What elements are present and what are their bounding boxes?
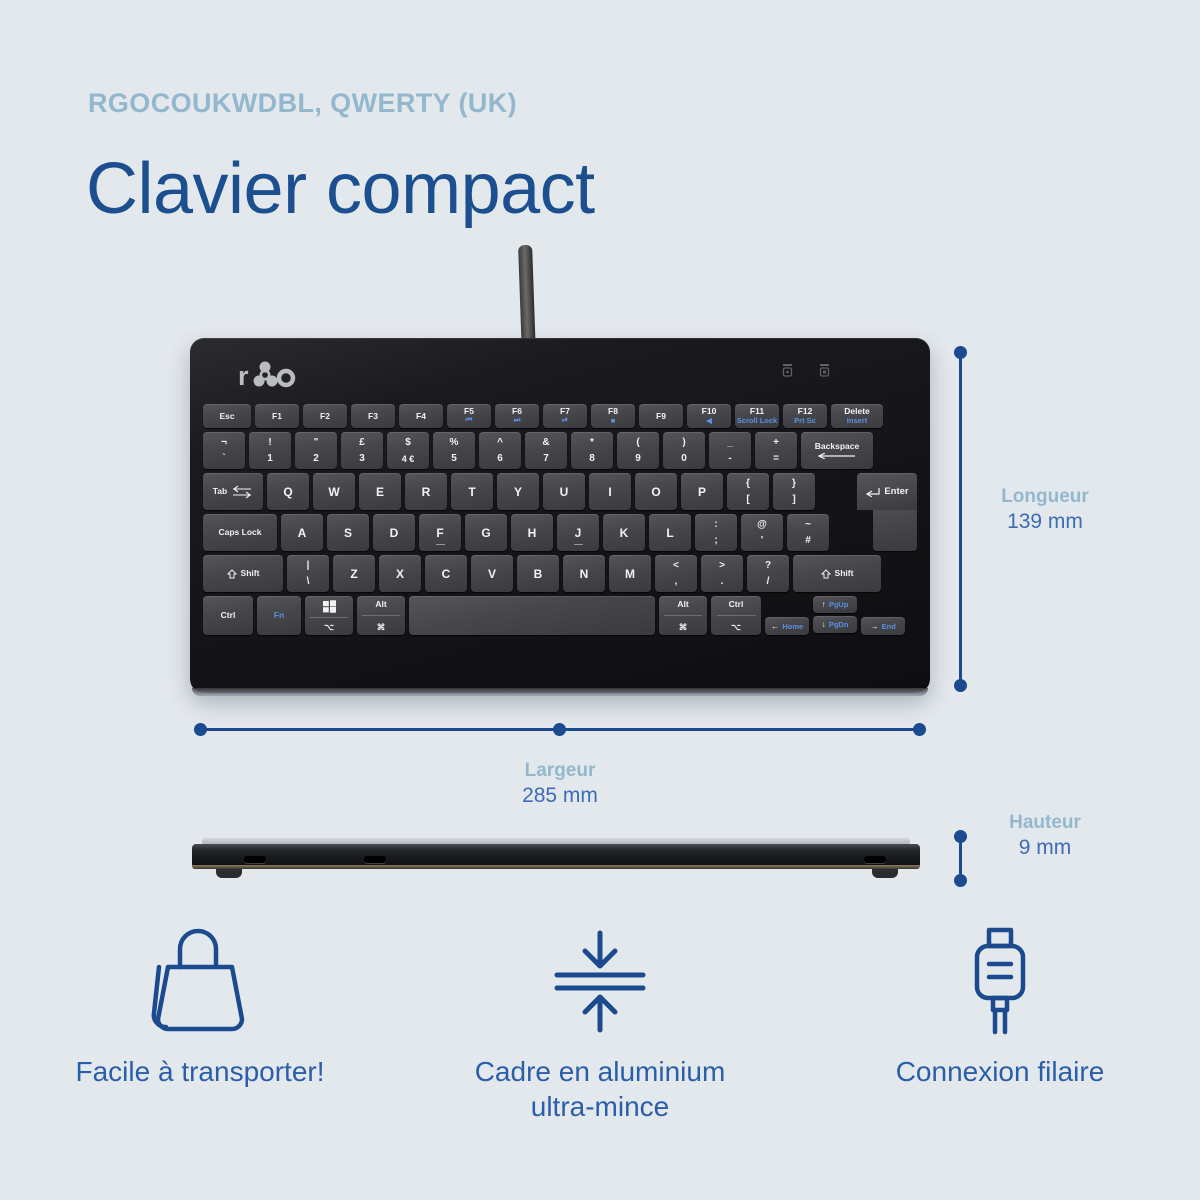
key-j[interactable]: J — [557, 514, 599, 551]
key-f2[interactable]: F2 — [303, 404, 347, 428]
key-right-shift[interactable]: Shift — [793, 555, 881, 592]
key-z[interactable]: Z — [333, 555, 375, 592]
option-icon: ⌥ — [324, 623, 334, 632]
command-icon: ⌘ — [679, 623, 688, 632]
key-arrow-up[interactable]: ↑ PgUp — [813, 596, 857, 613]
key-f10[interactable]: F10 ◀ — [687, 404, 731, 428]
height-label: Hauteur — [965, 812, 1125, 834]
key-8[interactable]: * 8 — [571, 432, 613, 469]
thin-frame-icon — [545, 920, 655, 1040]
key-backspace[interactable]: Backspace — [801, 432, 873, 469]
key-k[interactable]: K — [603, 514, 645, 551]
windows-icon — [323, 600, 336, 613]
length-dot-top — [954, 346, 967, 359]
key-arrow-left[interactable]: ← Home — [765, 617, 809, 635]
key-e[interactable]: E — [359, 473, 401, 510]
key-t[interactable]: T — [451, 473, 493, 510]
next-track-icon: ⏭ — [514, 415, 521, 425]
key-right-ctrl-option[interactable]: Ctrl ⌥ — [711, 596, 761, 635]
bag-icon — [146, 920, 254, 1040]
key-f11[interactable]: F11 Scroll Lock — [735, 404, 779, 428]
shift-arrow-icon — [821, 569, 831, 579]
play-pause-icon: ⏯ — [562, 415, 568, 425]
feature-thin-frame: Cadre en aluminium ultra-mince — [400, 920, 800, 1124]
volume-icon: ◀ — [706, 416, 712, 425]
key-n[interactable]: N — [563, 555, 605, 592]
homing-bump — [436, 544, 445, 546]
key-f8[interactable]: F8 ■ — [591, 404, 635, 428]
product-sku: RGOCOUKWDBL, QWERTY (UK) — [88, 88, 517, 119]
key-delete[interactable]: Delete Insert — [831, 404, 883, 428]
key-f6[interactable]: F6 ⏭ — [495, 404, 539, 428]
key-y[interactable]: Y — [497, 473, 539, 510]
shift-key-row: Shift | \ Z X C V B N M < — [203, 555, 917, 592]
key-left-ctrl[interactable]: Ctrl — [203, 596, 253, 635]
key-f1[interactable]: F1 — [255, 404, 299, 428]
key-grave[interactable]: ¬ ` — [203, 432, 245, 469]
key-esc[interactable]: Esc — [203, 404, 251, 428]
key-s[interactable]: S — [327, 514, 369, 551]
side-foot-left — [216, 869, 242, 878]
key-windows-option[interactable]: ⌥ — [305, 596, 353, 635]
key-f9[interactable]: F9 — [639, 404, 683, 428]
key-f5[interactable]: F5 ⏮ — [447, 404, 491, 428]
modifier-key-row: Ctrl Fn ⌥ — [203, 596, 917, 635]
caps-lock-led-icon — [782, 364, 793, 377]
length-dot-bottom — [954, 679, 967, 692]
width-dot-right — [913, 723, 926, 736]
side-chassis — [192, 844, 920, 866]
key-fn[interactable]: Fn — [257, 596, 301, 635]
key-bracket-right[interactable]: } ] — [773, 473, 815, 510]
side-detail-right — [864, 856, 886, 863]
key-q[interactable]: Q — [267, 473, 309, 510]
key-w[interactable]: W — [313, 473, 355, 510]
key-equals[interactable]: + = — [755, 432, 797, 469]
key-g[interactable]: G — [465, 514, 507, 551]
key-f12[interactable]: F12 Prt Sc — [783, 404, 827, 428]
key-6[interactable]: ^ 6 — [479, 432, 521, 469]
key-hash[interactable]: ~ # — [787, 514, 829, 551]
key-arrow-down[interactable]: ↓ PgDn — [813, 616, 857, 633]
key-f7[interactable]: F7 ⏯ — [543, 404, 587, 428]
key-h[interactable]: H — [511, 514, 553, 551]
key-4[interactable]: $ 4 € — [387, 432, 429, 469]
feature-caption: Cadre en aluminium ultra-mince — [475, 1054, 726, 1124]
length-line — [959, 352, 962, 692]
command-icon: ⌘ — [377, 623, 386, 632]
feature-list: Facile à transporter! Cadre en aluminium… — [0, 920, 1200, 1124]
number-key-row: ¬ ` ! 1 " 2 £ 3 — [203, 432, 917, 469]
prev-track-icon: ⏮ — [466, 415, 473, 425]
key-x[interactable]: X — [379, 555, 421, 592]
keyboard-bottom-edge — [192, 688, 928, 696]
key-r[interactable]: R — [405, 473, 447, 510]
keyboard-chassis: r — [190, 338, 930, 693]
tab-arrows-icon — [231, 485, 253, 499]
side-detail-mid — [364, 856, 386, 863]
key-v[interactable]: V — [471, 555, 513, 592]
num-lock-led-icon — [819, 364, 830, 377]
arrow-up-down-stack: ↑ PgUp ↓ PgDn — [813, 596, 857, 635]
key-period[interactable]: > . — [701, 555, 743, 592]
width-dot-center — [553, 723, 566, 736]
key-5[interactable]: % 5 — [433, 432, 475, 469]
key-f[interactable]: F — [419, 514, 461, 551]
homing-bump — [574, 544, 583, 546]
key-b[interactable]: B — [517, 555, 559, 592]
key-3[interactable]: £ 3 — [341, 432, 383, 469]
page-title: Clavier compact — [86, 148, 595, 230]
feature-portable: Facile à transporter! — [0, 920, 400, 1124]
key-f3[interactable]: F3 — [351, 404, 395, 428]
width-value: 285 mm — [480, 784, 640, 808]
key-comma[interactable]: < , — [655, 555, 697, 592]
shift-arrow-icon — [227, 569, 237, 579]
infographic-canvas: RGOCOUKWDBL, QWERTY (UK) Clavier compact… — [0, 0, 1200, 1200]
key-2[interactable]: " 2 — [295, 432, 337, 469]
width-label: Largeur — [480, 760, 640, 782]
length-value: 139 mm — [965, 510, 1125, 534]
key-left-shift[interactable]: Shift — [203, 555, 283, 592]
feature-caption: Facile à transporter! — [76, 1054, 325, 1089]
keyboard-side-view — [192, 838, 920, 882]
key-right-alt-command[interactable]: Alt ⌘ — [659, 596, 707, 635]
length-label: Longueur — [965, 486, 1125, 508]
key-tab[interactable]: Tab — [203, 473, 263, 510]
key-apostrophe[interactable]: @ ' — [741, 514, 783, 551]
key-a[interactable]: A — [281, 514, 323, 551]
key-7[interactable]: & 7 — [525, 432, 567, 469]
height-value: 9 mm — [965, 836, 1125, 860]
stop-icon: ■ — [611, 416, 616, 425]
usb-plug-icon — [955, 920, 1045, 1040]
option-icon: ⌥ — [731, 623, 741, 632]
side-detail-left — [244, 856, 266, 863]
svg-text:r: r — [238, 361, 249, 391]
keyboard-top-view: r — [190, 245, 930, 700]
key-slash[interactable]: ? / — [747, 555, 789, 592]
side-foot-right — [872, 869, 898, 878]
key-space[interactable] — [409, 596, 655, 635]
key-o[interactable]: O — [635, 473, 677, 510]
function-key-row: Esc F1 F2 F3 F4 F5 — [203, 404, 917, 428]
feature-wired: Connexion filaire — [800, 920, 1200, 1124]
key-arrow-right[interactable]: → End — [861, 617, 905, 635]
height-dot-bottom — [954, 874, 967, 887]
key-d[interactable]: D — [373, 514, 415, 551]
home-key-row: Caps Lock A S D F G H J K — [203, 514, 917, 551]
key-l[interactable]: L — [649, 514, 691, 551]
key-semicolon[interactable]: : ; — [695, 514, 737, 551]
key-caps-lock[interactable]: Caps Lock — [203, 514, 277, 551]
r-go-logo: r — [238, 358, 300, 392]
key-p[interactable]: P — [681, 473, 723, 510]
qwerty-key-row: Tab Q W E R T Y — [203, 473, 917, 510]
width-dot-left — [194, 723, 207, 736]
key-0[interactable]: ) 0 — [663, 432, 705, 469]
side-aluminium-edge — [192, 865, 920, 869]
key-9[interactable]: ( 9 — [617, 432, 659, 469]
enter-arrow-icon — [865, 487, 881, 497]
key-c[interactable]: C — [425, 555, 467, 592]
status-indicators — [782, 364, 830, 377]
key-i[interactable]: I — [589, 473, 631, 510]
key-m[interactable]: M — [609, 555, 651, 592]
key-bracket-left[interactable]: { [ — [727, 473, 769, 510]
feature-caption: Connexion filaire — [896, 1054, 1105, 1089]
key-matrix: Esc F1 F2 F3 F4 F5 — [203, 404, 917, 639]
key-backslash[interactable]: | \ — [287, 555, 329, 592]
backspace-arrow-icon — [817, 453, 857, 459]
key-minus[interactable]: _ - — [709, 432, 751, 469]
key-f4[interactable]: F4 — [399, 404, 443, 428]
key-1[interactable]: ! 1 — [249, 432, 291, 469]
key-left-alt-command[interactable]: Alt ⌘ — [357, 596, 405, 635]
key-u[interactable]: U — [543, 473, 585, 510]
